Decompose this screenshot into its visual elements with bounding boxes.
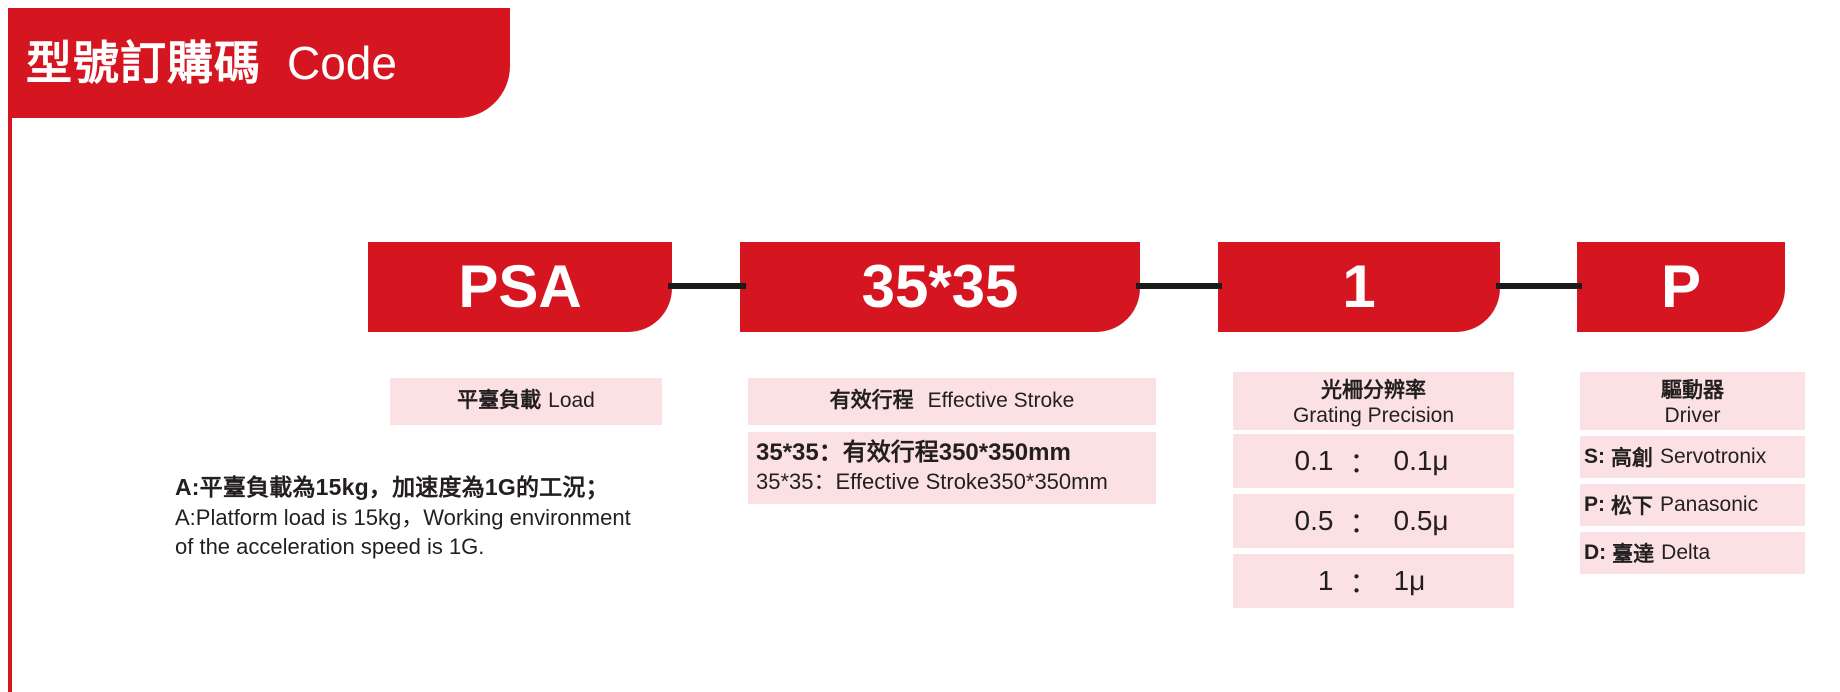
stroke-detail-cn: 35*35：有效行程350*350mm [756, 438, 1148, 468]
connector-line [1496, 283, 1582, 289]
stroke-detail-en: 35*35：Effective Stroke350*350mm [756, 468, 1148, 496]
code-segment-model: PSA [368, 242, 672, 332]
grating-option-row: 1 ： 1μ [1233, 554, 1514, 608]
driver-option-code: S: [1584, 445, 1605, 469]
load-note-en-line1: A:Platform load is 15kg，Working environm… [175, 503, 695, 532]
grating-option-key: 0.1 [1281, 445, 1333, 477]
grating-header-en: Grating Precision [1239, 404, 1508, 429]
grating-option-separator: ： [1349, 561, 1377, 601]
grating-header-cn: 光柵分辨率 [1239, 379, 1508, 404]
grating-option-row: 0.5 ： 0.5μ [1233, 494, 1514, 548]
grating-option-value: 1μ [1394, 565, 1466, 597]
grating-option-row: 0.1 ： 0.1μ [1233, 434, 1514, 488]
header-banner: 型號訂購碼 Code [8, 8, 510, 118]
driver-option-code: D: [1584, 541, 1606, 565]
driver-option-code: P: [1584, 493, 1605, 517]
driver-option-row: P: 松下 Panasonic [1580, 484, 1805, 526]
load-note-en-line2: of the acceleration speed is 1G. [175, 532, 695, 561]
connector-line [1136, 283, 1222, 289]
load-header-en: Load [548, 389, 595, 414]
code-segment-grating: 1 [1218, 242, 1500, 332]
header-title-cn: 型號訂購碼 [26, 40, 261, 86]
driver-legend-header: 驅動器 Driver [1580, 372, 1805, 430]
driver-option-en: Delta [1661, 541, 1710, 565]
grating-option-value: 0.1μ [1394, 445, 1466, 477]
driver-option-cn: 臺達 [1612, 538, 1654, 568]
driver-option-cn: 高創 [1611, 442, 1653, 472]
stroke-header-cn: 有效行程 [830, 389, 914, 414]
grating-legend-header: 光柵分辨率 Grating Precision [1233, 372, 1514, 430]
stroke-header-en: Effective Stroke [928, 389, 1075, 414]
grating-option-key: 1 [1281, 565, 1333, 597]
header-title-en: Code [287, 40, 397, 86]
grating-option-value: 0.5μ [1394, 505, 1466, 537]
driver-option-cn: 松下 [1611, 490, 1653, 520]
connector-line [668, 283, 746, 289]
stroke-legend-header: 有效行程Effective Stroke [748, 378, 1156, 425]
grating-option-separator: ： [1349, 501, 1377, 541]
code-segment-driver: P [1577, 242, 1785, 332]
left-vertical-rule [8, 110, 12, 692]
grating-option-key: 0.5 [1281, 505, 1333, 537]
grating-option-separator: ： [1349, 441, 1377, 481]
driver-option-row: S: 高創 Servotronix [1580, 436, 1805, 478]
stroke-detail-panel: 35*35：有效行程350*350mm 35*35：Effective Stro… [748, 432, 1156, 504]
load-note-cn: A:平臺負載為15kg，加速度為1G的工況； [175, 472, 695, 503]
load-note-block: A:平臺負載為15kg，加速度為1G的工況； A:Platform load i… [175, 472, 695, 562]
load-header-cn: 平臺負載 [457, 389, 541, 414]
driver-option-row: D: 臺達 Delta [1580, 532, 1805, 574]
driver-option-en: Servotronix [1660, 445, 1766, 469]
driver-header-en: Driver [1586, 404, 1799, 429]
load-legend-header: 平臺負載Load [390, 378, 662, 425]
driver-option-en: Panasonic [1660, 493, 1758, 517]
driver-header-cn: 驅動器 [1586, 379, 1799, 404]
code-segment-stroke: 35*35 [740, 242, 1140, 332]
